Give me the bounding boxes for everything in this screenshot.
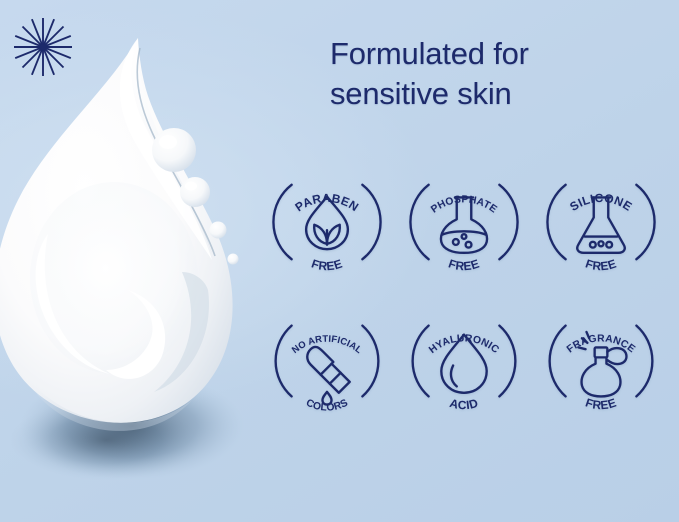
badge-arc-left: [550, 325, 566, 396]
headline-line-1: Formulated for: [330, 34, 650, 74]
badge-arc-left: [413, 325, 429, 396]
badge-no-artificial-colors: NO ARTIFICIAL COLORS: [258, 291, 395, 430]
headline-line-2: sensitive skin: [330, 74, 650, 114]
badge-arc-left: [275, 325, 291, 396]
badge-arc-right: [637, 184, 655, 258]
badge-phosphate-free: PHOSPHATE FREE: [395, 152, 532, 291]
badge-top-label: PARABEN: [292, 191, 361, 214]
cream-droplet-swatch: [0, 22, 254, 492]
badge-silicone-free: SILICONE FREE: [533, 152, 670, 291]
product-claims-banner: Formulated for sensitive skin PARABEN FR…: [0, 0, 679, 522]
badge-bottom-label: FREE: [447, 256, 482, 273]
badge-paraben-free: PARABEN FREE: [258, 152, 395, 291]
badge-bottom-label: FREE: [584, 395, 619, 412]
badge-bottom-label: ACID: [448, 395, 480, 411]
dropper-pipette-icon: [307, 346, 349, 404]
badge-arc-left: [273, 184, 291, 258]
badge-fragrance-free: FRAGRANCE FREE: [533, 291, 670, 430]
badge-top-label: SILICONE: [568, 190, 635, 213]
badge-arc-right: [499, 325, 515, 396]
badge-bottom-label: FREE: [309, 256, 344, 273]
badge-arc-right: [362, 325, 378, 396]
badge-arc-right: [362, 184, 380, 258]
page-title: Formulated for sensitive skin: [330, 34, 650, 113]
badge-arc-left: [410, 184, 428, 258]
badge-bottom-label: FREE: [584, 256, 619, 273]
claims-badge-grid: PARABEN FREE: [258, 152, 670, 430]
badge-top-label: NO ARTIFICIAL: [289, 332, 364, 355]
badge-arc-right: [637, 325, 653, 396]
badge-arc-right: [499, 184, 517, 258]
badge-arc-left: [548, 184, 566, 258]
badge-hyaluronic-acid: HYALURONIC ACID: [395, 291, 532, 430]
